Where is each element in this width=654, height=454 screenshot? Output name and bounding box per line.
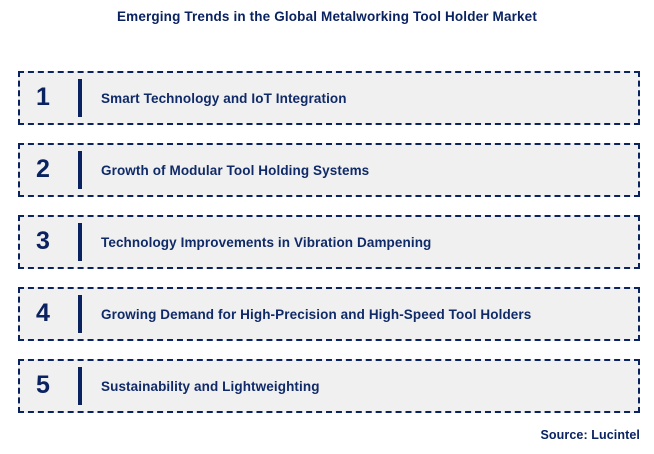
list-item[interactable]: 5 Sustainability and Lightweighting [18,359,640,413]
trend-label: Growth of Modular Tool Holding Systems [82,163,638,178]
list-item[interactable]: 1 Smart Technology and IoT Integration [18,71,640,125]
page-title: Emerging Trends in the Global Metalworki… [0,9,654,24]
list-item[interactable]: 3 Technology Improvements in Vibration D… [18,215,640,269]
trend-number: 2 [20,157,66,184]
trend-label: Smart Technology and IoT Integration [82,91,638,106]
source-attribution: Source: Lucintel [540,428,640,442]
trend-label: Technology Improvements in Vibration Dam… [82,235,638,250]
trend-number: 1 [20,85,66,112]
list-item[interactable]: 2 Growth of Modular Tool Holding Systems [18,143,640,197]
trend-label: Sustainability and Lightweighting [82,379,638,394]
infographic-page: Emerging Trends in the Global Metalworki… [0,0,654,454]
list-item[interactable]: 4 Growing Demand for High-Precision and … [18,287,640,341]
trend-number: 4 [20,301,66,328]
trend-list: 1 Smart Technology and IoT Integration 2… [18,71,640,413]
trend-number: 3 [20,229,66,256]
trend-number: 5 [20,373,66,400]
trend-label: Growing Demand for High-Precision and Hi… [82,307,638,322]
